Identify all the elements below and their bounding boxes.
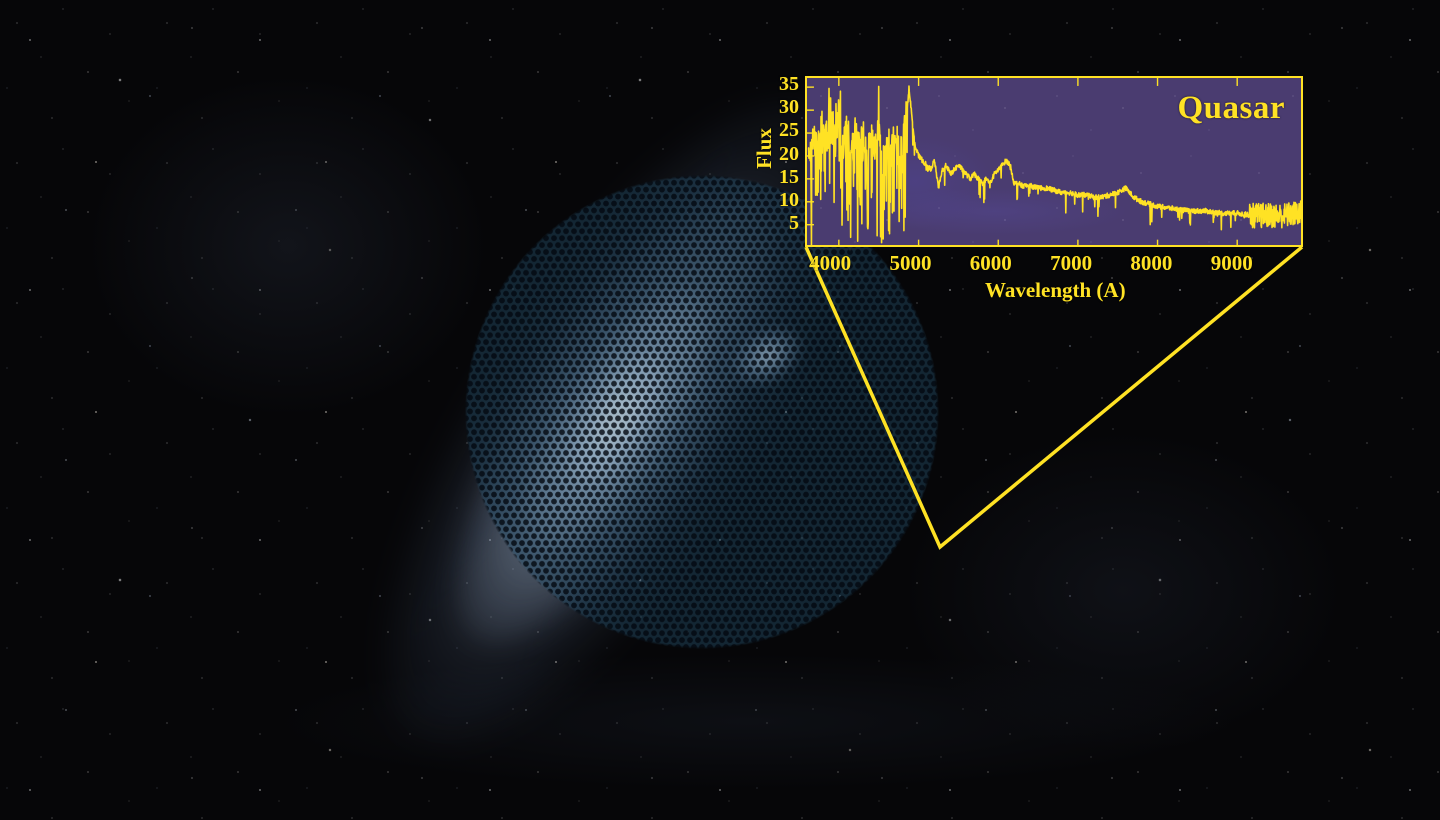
bundle-notch-br — [786, 702, 830, 736]
x-tick-9000: 9000 — [1211, 251, 1253, 276]
quasar-annotation: Quasar — [1177, 90, 1285, 127]
bundle-notch-bottom — [596, 698, 652, 728]
bundle-notch-right — [970, 562, 1008, 606]
y-tick-35: 35 — [761, 73, 799, 96]
x-tick-6000: 6000 — [970, 251, 1012, 276]
astronomy-figure: Quasar 5101520253035 4000500060007000800… — [0, 0, 1440, 820]
x-axis-title: Wavelength (A) — [985, 278, 1126, 303]
x-tick-7000: 7000 — [1050, 251, 1092, 276]
y-axis-title: Flux — [752, 128, 777, 169]
x-tick-8000: 8000 — [1130, 251, 1172, 276]
x-tick-5000: 5000 — [889, 251, 931, 276]
bundle-notch-top — [532, 58, 592, 84]
y-tick-15: 15 — [761, 166, 799, 189]
y-tick-5: 5 — [761, 212, 799, 235]
x-tick-4000: 4000 — [809, 251, 851, 276]
y-tick-30: 30 — [761, 96, 799, 119]
quasar-spectrum-plot: Quasar — [805, 76, 1303, 247]
y-tick-10: 10 — [761, 189, 799, 212]
